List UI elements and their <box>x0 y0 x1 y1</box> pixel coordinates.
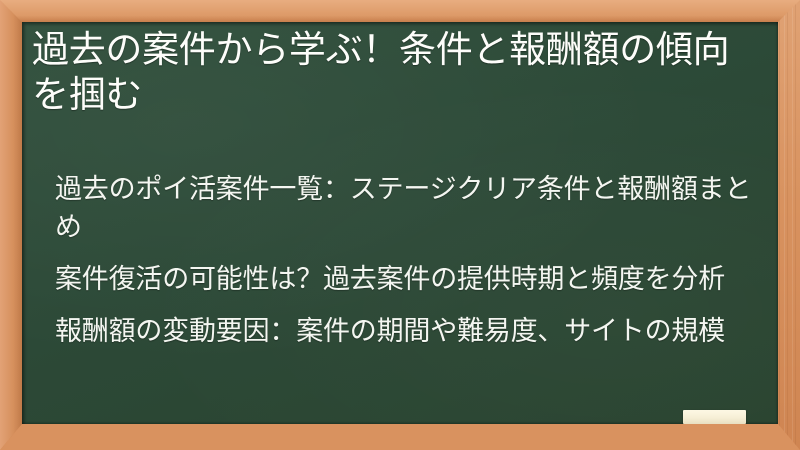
list-item: 過去のポイ活案件一覧：ステージクリア条件と報酬額まとめ <box>55 170 755 246</box>
chalkboard-content: 過去の案件から学ぶ！条件と報酬額の傾向を掴む 過去のポイ活案件一覧：ステージクリ… <box>22 22 778 424</box>
chalk-eraser-icon <box>683 410 746 424</box>
slide-title: 過去の案件から学ぶ！条件と報酬額の傾向を掴む <box>32 27 756 117</box>
chalkboard-surface: 過去の案件から学ぶ！条件と報酬額の傾向を掴む 過去のポイ活案件一覧：ステージクリ… <box>22 22 778 424</box>
list-item: 案件復活の可能性は？過去案件の提供時期と頻度を分析 <box>55 260 755 298</box>
frame-bevel-bottom <box>0 424 800 450</box>
frame-bevel-top <box>0 0 800 22</box>
list-item: 報酬額の変動要因：案件の期間や難易度、サイトの規模 <box>55 312 755 350</box>
frame-bevel-left <box>0 0 22 450</box>
frame-bevel-right <box>778 0 800 450</box>
topic-list: 過去のポイ活案件一覧：ステージクリア条件と報酬額まとめ 案件復活の可能性は？過去… <box>55 170 755 364</box>
chalkboard-frame: 過去の案件から学ぶ！条件と報酬額の傾向を掴む 過去のポイ活案件一覧：ステージクリ… <box>0 0 800 450</box>
